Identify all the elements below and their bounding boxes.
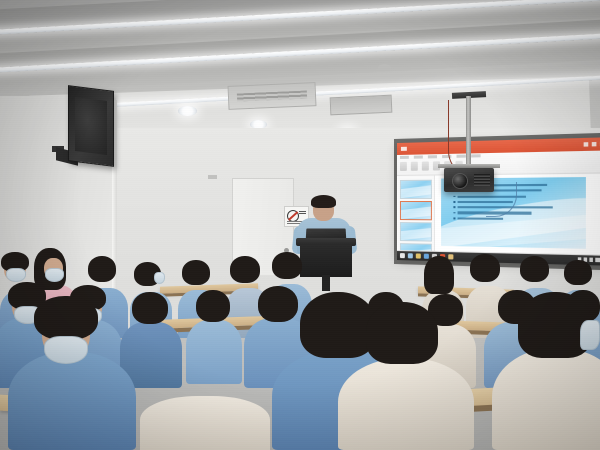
downlight-icon bbox=[178, 106, 197, 116]
slide-bullet bbox=[453, 217, 576, 220]
clock-display[interactable] bbox=[595, 258, 600, 263]
bullet-dot-icon bbox=[453, 206, 455, 208]
face-mask-icon bbox=[45, 268, 64, 282]
ribbon-command-icon[interactable] bbox=[400, 162, 407, 171]
wall-speaker-icon bbox=[68, 85, 114, 167]
explorer-icon[interactable] bbox=[416, 253, 421, 258]
slide-bullet bbox=[453, 206, 576, 209]
smoke-detector-icon bbox=[378, 64, 391, 71]
ribbon-tab[interactable] bbox=[428, 155, 437, 158]
app-logo-icon bbox=[401, 147, 407, 151]
search-icon[interactable] bbox=[408, 253, 413, 258]
folder-icon[interactable] bbox=[448, 254, 453, 259]
slide-bullet bbox=[453, 212, 576, 215]
ac-vent-icon bbox=[228, 82, 317, 110]
projector-lens-icon bbox=[452, 173, 468, 189]
maximize-icon[interactable] bbox=[592, 142, 597, 146]
slide-thumbnail-pane[interactable] bbox=[398, 176, 435, 252]
slide-thumbnail[interactable] bbox=[400, 180, 432, 199]
ac-vent-icon bbox=[330, 95, 393, 116]
face-mask-icon bbox=[6, 268, 26, 282]
face-mask-icon bbox=[580, 320, 600, 350]
start-icon[interactable] bbox=[400, 253, 405, 258]
tray-icon[interactable] bbox=[589, 258, 592, 262]
presenter-hair bbox=[311, 195, 336, 208]
podium bbox=[300, 243, 352, 277]
photo-scene: Corporate Training Seminar in Classroom … bbox=[0, 0, 600, 450]
slide-thumbnail-selected[interactable] bbox=[400, 201, 432, 220]
face-mask-icon bbox=[44, 336, 88, 364]
ribbon-command-icon[interactable] bbox=[422, 161, 429, 170]
browser-icon[interactable] bbox=[424, 253, 429, 258]
ribbon-tab[interactable] bbox=[400, 156, 409, 159]
bullet-dot-icon bbox=[453, 196, 455, 198]
bullet-dot-icon bbox=[453, 212, 455, 214]
podium-base bbox=[322, 275, 330, 291]
bullet-dot-icon bbox=[453, 201, 455, 203]
sign-text-lines bbox=[299, 211, 306, 214]
wall-marking bbox=[208, 175, 217, 179]
ribbon-command-icon[interactable] bbox=[411, 162, 418, 171]
minimize-icon[interactable] bbox=[584, 142, 589, 146]
slide-thumbnail[interactable] bbox=[400, 222, 432, 242]
face-mask-icon bbox=[154, 272, 165, 284]
ribbon-tab[interactable] bbox=[414, 155, 423, 158]
bullet-dot-icon bbox=[453, 217, 455, 219]
